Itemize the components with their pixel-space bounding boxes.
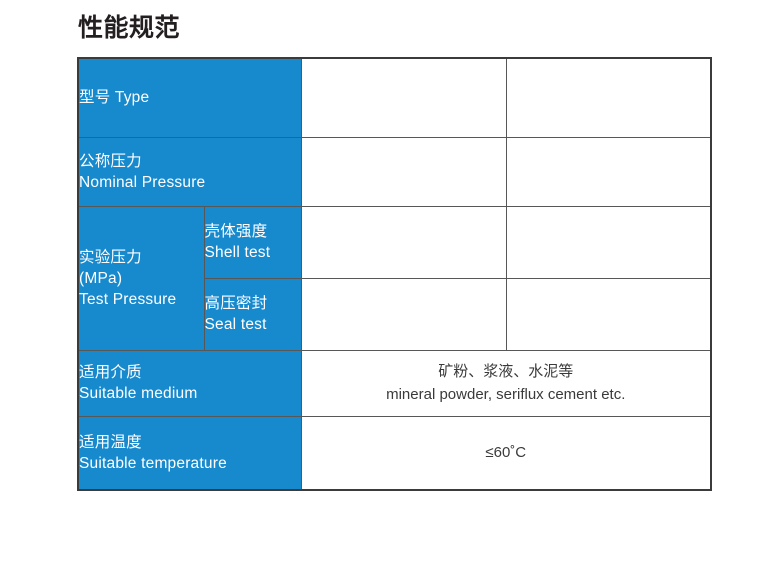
table-row: 型号 Type [78, 58, 711, 137]
row-value-nominal-pressure-right[interactable] [506, 137, 711, 206]
row-label-type-cn: 型号 Type [79, 87, 301, 108]
row-label-suitable-temperature-cn: 适用温度 [79, 432, 301, 453]
row-value-suitable-temperature-text: ≤60˚C [302, 442, 711, 464]
row-value-suitable-temperature[interactable]: ≤60˚C [301, 416, 711, 490]
row-label-suitable-medium-en: Suitable medium [79, 383, 301, 404]
row-label-test-pressure-cn: 实验压力 [79, 247, 204, 268]
row-label-suitable-temperature: 适用温度 Suitable temperature [78, 416, 301, 490]
row-label-nominal-pressure: 公称压力 Nominal Pressure [78, 137, 301, 206]
row-sublabel-seal-test-cn: 高压密封 [205, 293, 301, 314]
table-row: 公称压力 Nominal Pressure [78, 137, 711, 206]
performance-specification-table: 型号 Type 公称压力 Nominal Pressure 实验压力 (MPa) [77, 57, 712, 491]
row-sublabel-seal-test-en: Seal test [205, 314, 301, 335]
row-sublabel-seal-test: 高压密封 Seal test [204, 278, 301, 350]
row-value-nominal-pressure-left[interactable] [301, 137, 506, 206]
row-value-suitable-medium-cn: 矿粉、浆液、水泥等 [302, 360, 711, 383]
row-value-suitable-medium[interactable]: 矿粉、浆液、水泥等 mineral powder, seriflux cemen… [301, 350, 711, 416]
table-row: 适用温度 Suitable temperature ≤60˚C [78, 416, 711, 490]
row-label-nominal-pressure-en: Nominal Pressure [79, 172, 301, 193]
row-label-test-pressure: 实验压力 (MPa) Test Pressure [78, 206, 204, 350]
row-sublabel-shell-test: 壳体强度 Shell test [204, 206, 301, 278]
table-row: 适用介质 Suitable medium 矿粉、浆液、水泥等 mineral p… [78, 350, 711, 416]
row-sublabel-shell-test-cn: 壳体强度 [205, 221, 301, 242]
row-value-type-right[interactable] [506, 58, 711, 137]
row-value-shell-test-right[interactable] [506, 206, 711, 278]
row-label-suitable-medium-cn: 适用介质 [79, 362, 301, 383]
row-value-type-left[interactable] [301, 58, 506, 137]
page-title: 性能规范 [78, 12, 180, 44]
row-label-test-pressure-en: Test Pressure [79, 289, 204, 310]
row-value-shell-test-left[interactable] [301, 206, 506, 278]
table-row: 实验压力 (MPa) Test Pressure 壳体强度 Shell test [78, 206, 711, 278]
row-label-suitable-medium: 适用介质 Suitable medium [78, 350, 301, 416]
row-label-type: 型号 Type [78, 58, 301, 137]
row-label-test-pressure-unit: (MPa) [79, 268, 204, 289]
row-sublabel-shell-test-en: Shell test [205, 242, 301, 263]
row-value-suitable-medium-en: mineral powder, seriflux cement etc. [302, 383, 711, 406]
row-value-seal-test-left[interactable] [301, 278, 506, 350]
row-value-seal-test-right[interactable] [506, 278, 711, 350]
row-label-suitable-temperature-en: Suitable temperature [79, 453, 301, 474]
row-label-nominal-pressure-cn: 公称压力 [79, 151, 301, 172]
spec-page: 性能规范 型号 Type 公称压力 Nominal Pressure [0, 0, 778, 588]
